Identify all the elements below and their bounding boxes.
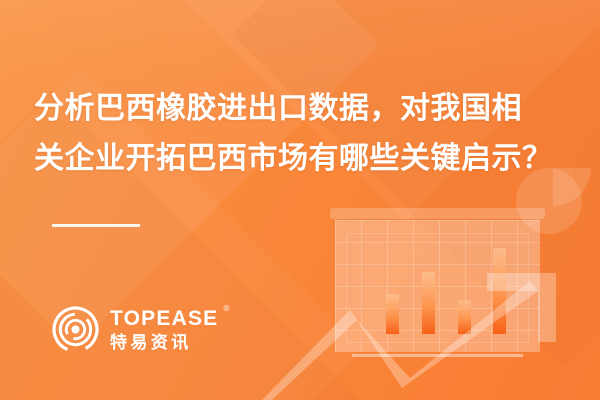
rising-trend-arrow-svg [262,268,600,400]
banner-root: 分析巴西橡胶进出口数据，对我国相 关企业开拓巴西市场有哪些关键启示？ TOPEA… [0,0,600,400]
page-title: 分析巴西橡胶进出口数据，对我国相 关企业开拓巴西市场有哪些关键启示？ [34,84,574,184]
brand-logo: TOPEASE® 特易资讯 [52,306,218,353]
brand-name-latin-text: TOPEASE [110,307,218,330]
registered-trademark-icon: ® [223,305,229,313]
brand-name-latin: TOPEASE® [110,308,218,329]
brand-name-cn: 特易资讯 [110,334,218,351]
board-top-bar [330,208,545,219]
rising-trend-arrow-icon [262,268,600,400]
brand-logo-text: TOPEASE® 特易资讯 [110,308,218,351]
title-divider [52,224,140,227]
concentric-spiral-svg [52,306,99,353]
concentric-spiral-icon [52,306,99,353]
